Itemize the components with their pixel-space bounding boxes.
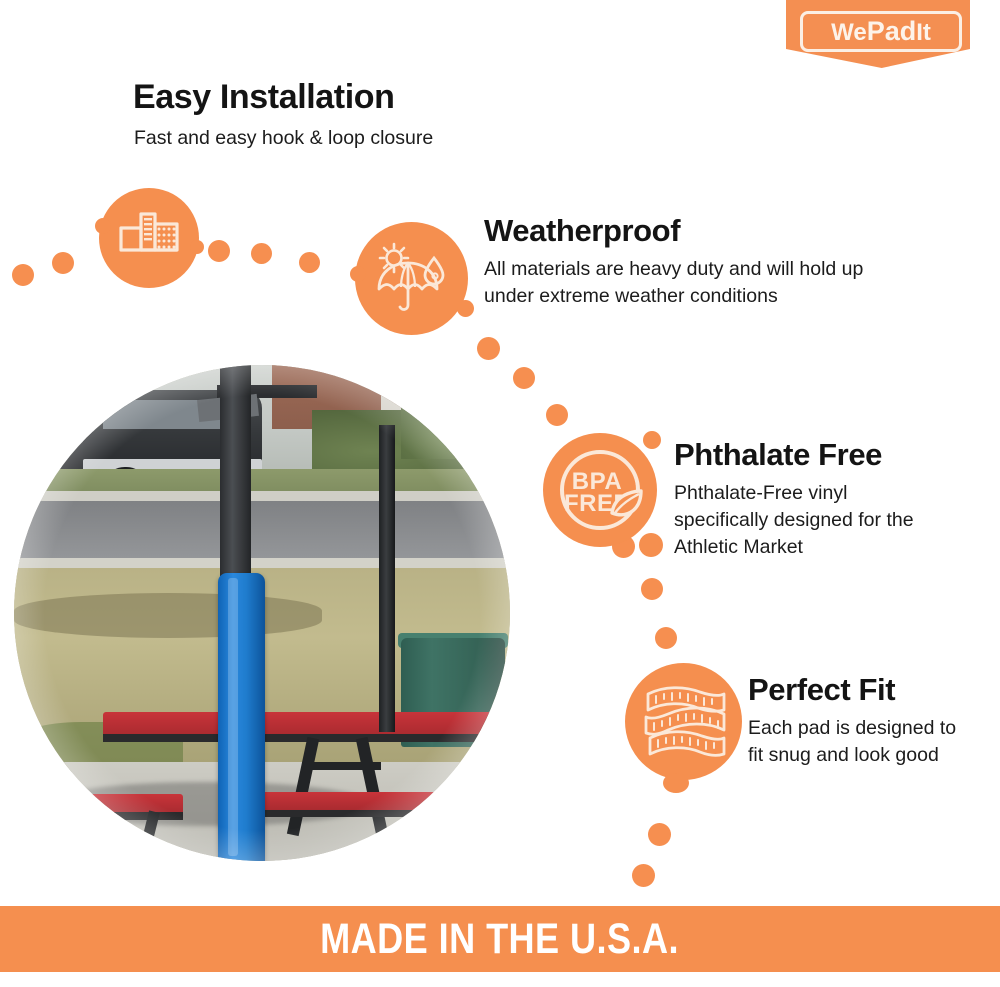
trail-dot — [632, 864, 655, 887]
feature-title-easy-installation: Easy Installation — [133, 78, 395, 117]
logo-word-it: It — [916, 19, 931, 46]
trail-dot — [299, 252, 320, 273]
feature-icon-perfect-fit — [625, 663, 742, 780]
infographic-page: WePadIt — [0, 0, 1000, 987]
feature-description-phthalate-free: Phthalate-Free vinyl specifically design… — [674, 480, 932, 561]
hook-and-loop-closure-icon — [117, 210, 181, 266]
feature-title-weatherproof: Weatherproof — [484, 213, 680, 249]
umbrella-sun-raindrop-icon — [373, 242, 451, 316]
feature-icon-weatherproof — [355, 222, 468, 335]
trail-dot — [52, 252, 74, 274]
measuring-tape-icon — [640, 680, 728, 764]
feature-icon-easy-installation — [99, 188, 199, 288]
logo-outline-box: WePadIt — [800, 11, 962, 52]
circle-nub — [639, 533, 663, 557]
circle-nub — [190, 240, 204, 254]
circle-nub — [350, 266, 366, 282]
feature-description-perfect-fit: Each pad is designed to fit snug and loo… — [748, 715, 973, 769]
product-photo — [14, 365, 510, 861]
trail-dot — [513, 367, 535, 389]
logo-word-pad: Pad — [867, 16, 917, 46]
trail-dot — [641, 578, 663, 600]
trail-dot — [477, 337, 500, 360]
logo-wordmark: WePadIt — [831, 18, 931, 45]
feature-description-easy-installation: Fast and easy hook & loop closure — [134, 125, 554, 152]
made-in-usa-text: MADE IN THE U.S.A. — [321, 915, 680, 964]
photo-vignette — [14, 365, 510, 861]
logo-word-we: We — [831, 19, 867, 46]
trail-dot — [648, 823, 671, 846]
brand-logo-badge: WePadIt — [786, 0, 970, 68]
feature-description-weatherproof: All materials are heavy duty and will ho… — [484, 256, 909, 310]
trail-dot — [251, 243, 272, 264]
trail-dot — [655, 627, 677, 649]
trail-dot — [546, 404, 568, 426]
circle-nub — [457, 300, 474, 317]
circle-nub — [643, 431, 661, 449]
circle-nub — [95, 218, 111, 234]
feature-icon-phthalate-free: BPA FREE — [543, 433, 657, 547]
trail-dot — [208, 240, 230, 262]
feature-title-perfect-fit: Perfect Fit — [748, 672, 895, 708]
trail-dot — [12, 264, 34, 286]
circle-nub — [663, 773, 689, 793]
feature-title-phthalate-free: Phthalate Free — [674, 437, 882, 473]
bpa-free-leaf-icon: BPA FREE — [553, 443, 647, 537]
made-in-usa-banner: MADE IN THE U.S.A. — [0, 906, 1000, 972]
